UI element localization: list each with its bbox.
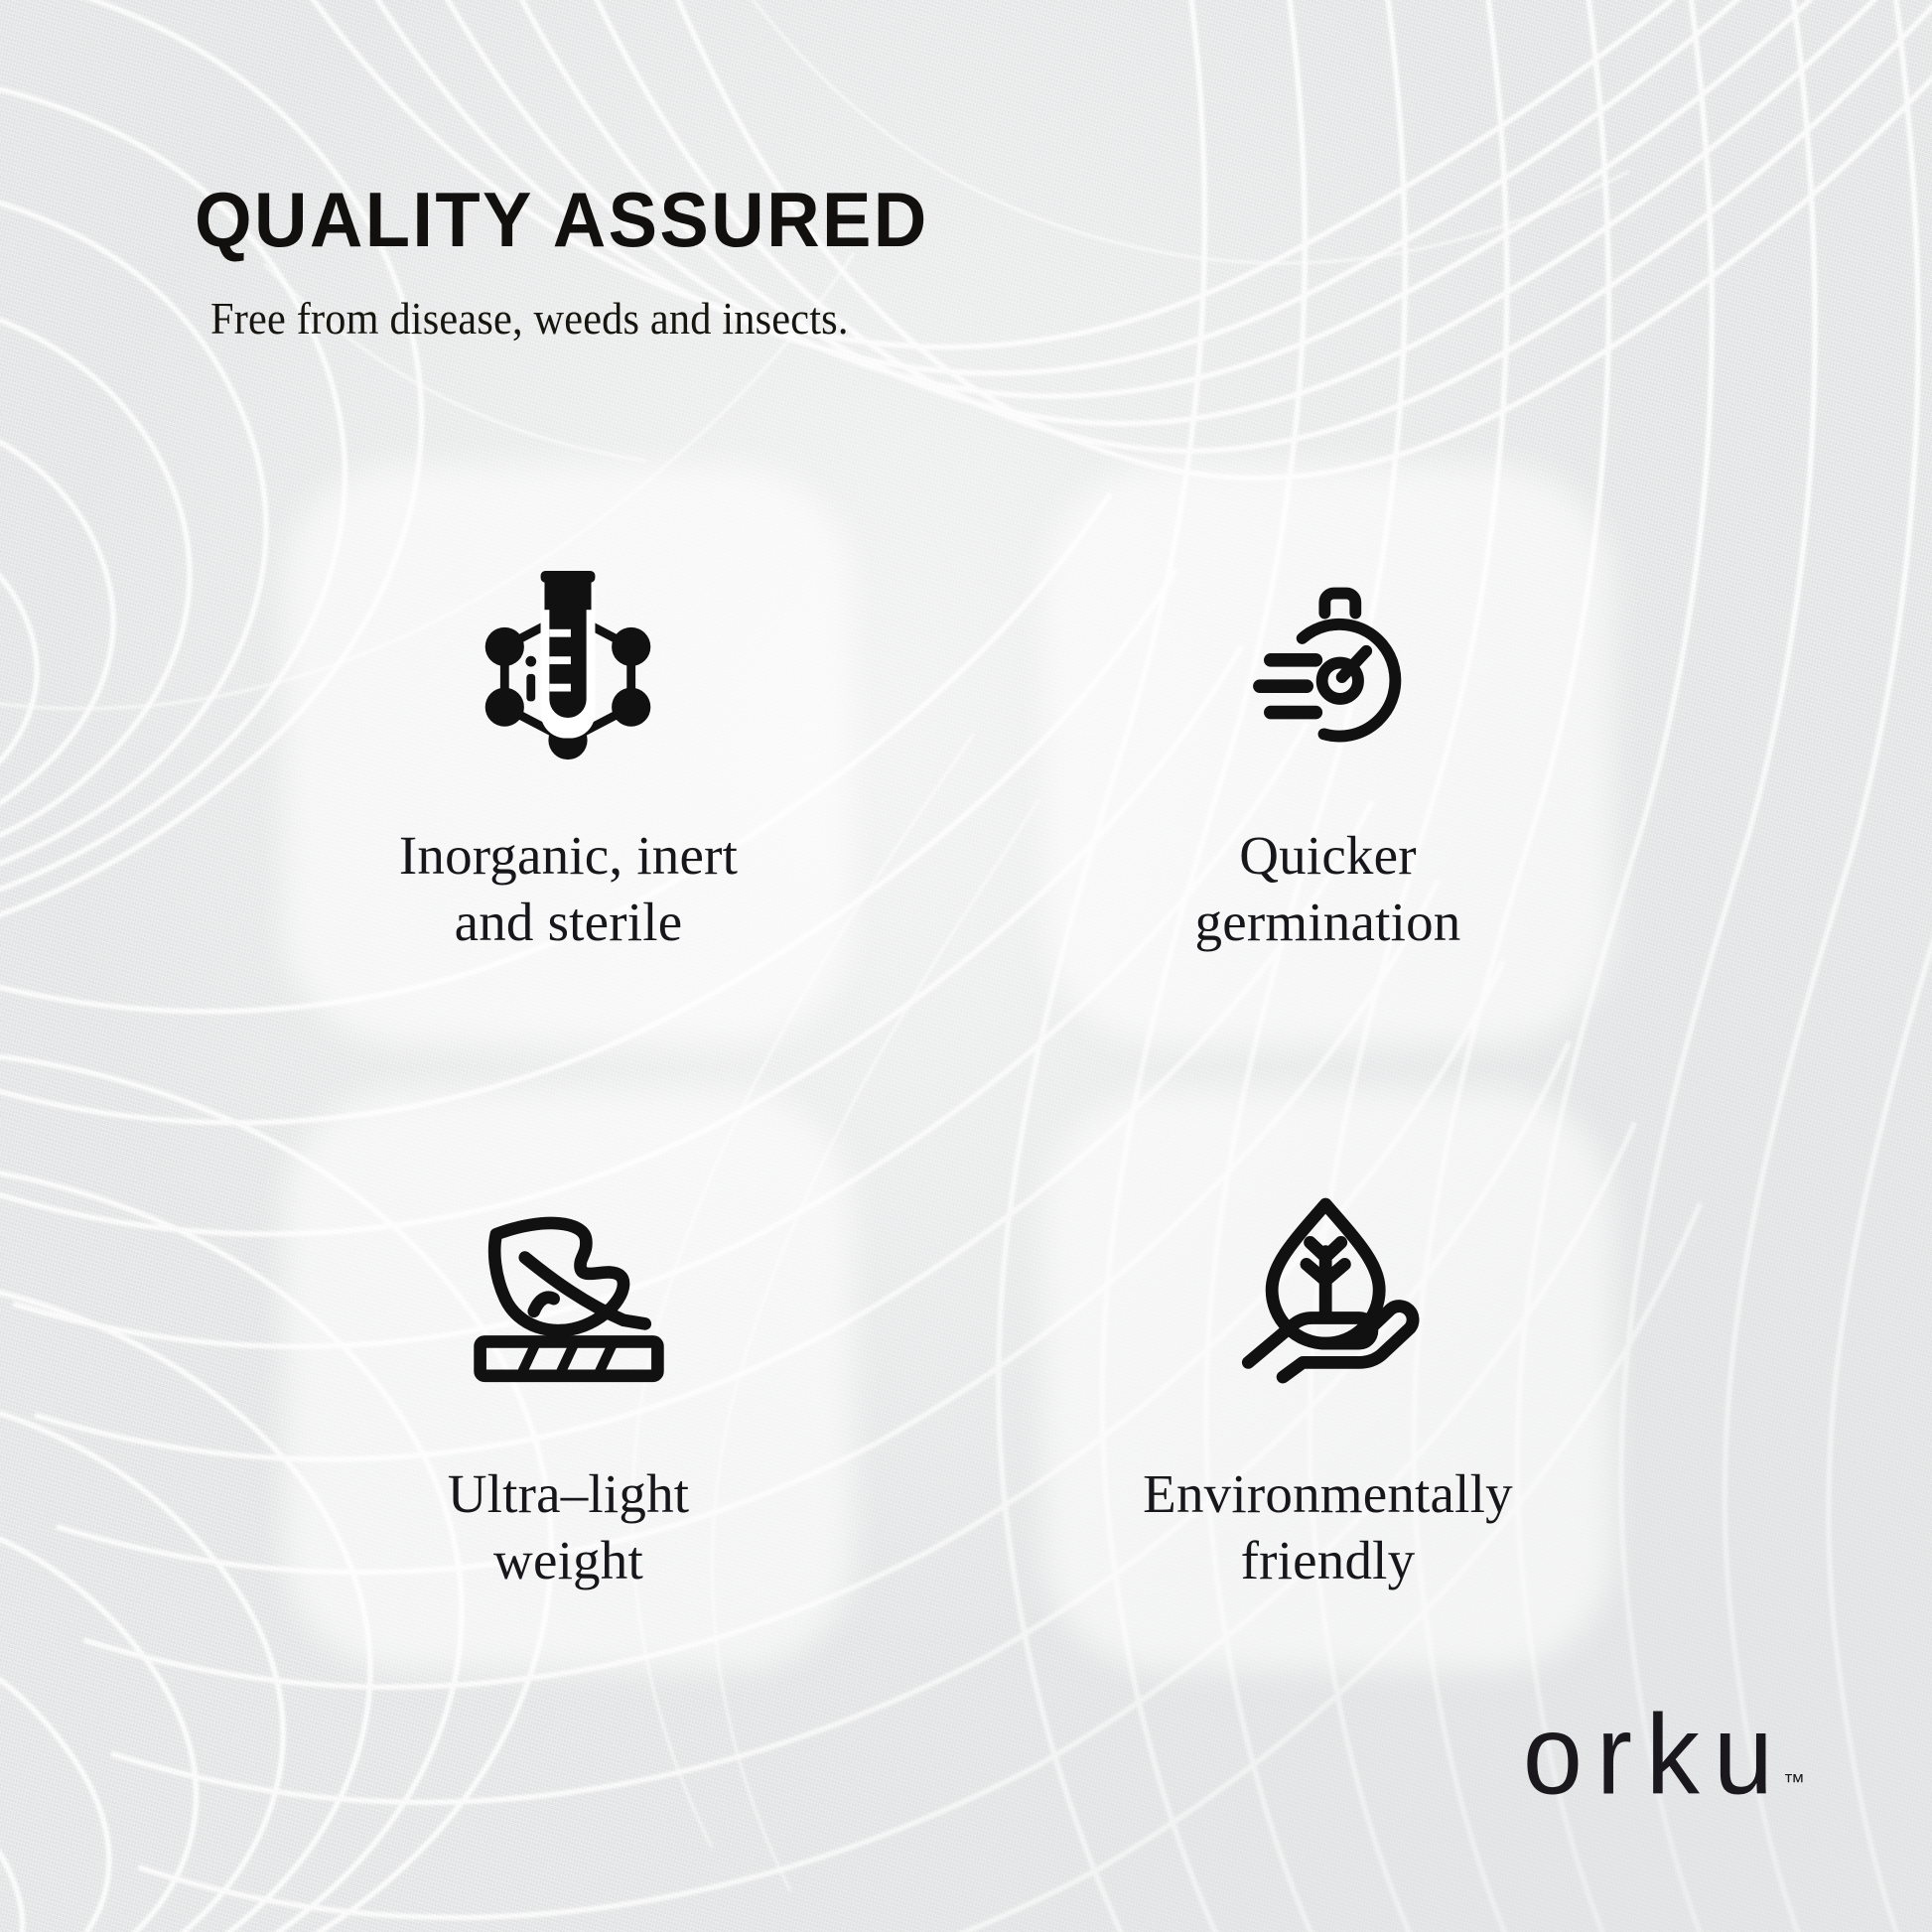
feature-label-line1: Quicker	[1239, 825, 1417, 886]
feather-on-layer-icon	[466, 1167, 672, 1415]
leaf-in-hand-icon	[1222, 1167, 1433, 1415]
feature-label-line2: weight	[493, 1530, 643, 1590]
feature-label: Ultra–light weight	[448, 1460, 690, 1593]
feature-card-lightweight[interactable]: Ultra–light weight	[298, 1102, 839, 1658]
page-subtitle: Free from disease, weeds and insects.	[210, 292, 1383, 345]
page-title: QUALITY ASSURED	[195, 181, 1421, 258]
fast-stopwatch-icon	[1229, 554, 1428, 782]
feature-card-germination[interactable]: Quicker germination	[1057, 477, 1598, 1033]
feature-label-line1: Environmentally	[1143, 1463, 1513, 1524]
brand-name: orku	[1523, 1703, 1787, 1805]
molecule-test-tube-icon	[471, 554, 665, 782]
poster-canvas: QUALITY ASSURED Free from disease, weeds…	[0, 0, 1932, 1932]
feature-label-line1: Inorganic, inert	[399, 825, 738, 886]
feature-label: Environmentally friendly	[1143, 1460, 1513, 1593]
brand-logo: orku ™	[1523, 1709, 1805, 1805]
feature-label: Quicker germination	[1195, 822, 1461, 955]
header: QUALITY ASSURED Free from disease, weeds…	[195, 181, 1485, 345]
feature-label-line2: germination	[1195, 892, 1461, 952]
feature-label-line1: Ultra–light	[448, 1463, 690, 1524]
feature-label-line2: friendly	[1241, 1530, 1416, 1590]
feature-label: Inorganic, inert and sterile	[399, 822, 738, 955]
feature-label-line2: and sterile	[455, 892, 683, 952]
feature-card-eco[interactable]: Environmentally friendly	[1057, 1102, 1598, 1658]
feature-grid: Inorganic, inert and sterile	[298, 477, 1648, 1658]
feature-card-inorganic[interactable]: Inorganic, inert and sterile	[298, 477, 839, 1033]
